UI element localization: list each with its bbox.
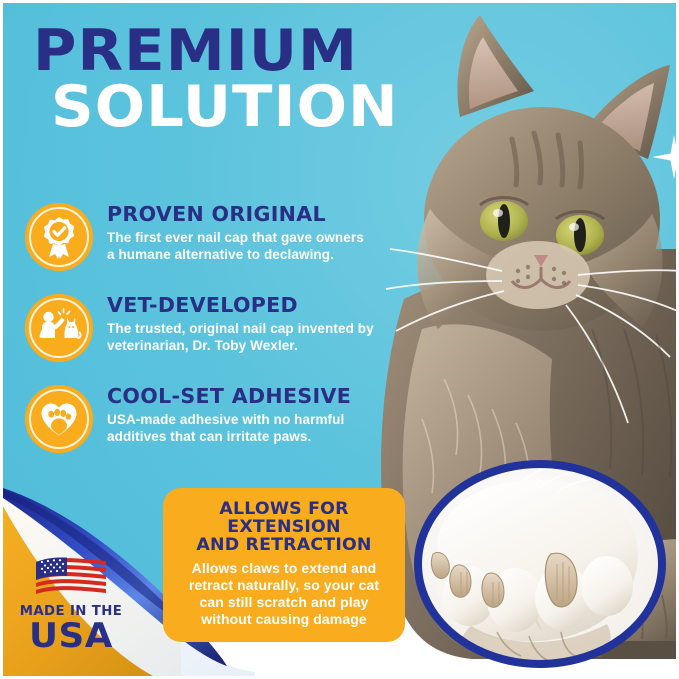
sparkle-icon	[652, 135, 676, 179]
feature-title: COOL-SET ADHESIVE	[107, 386, 435, 408]
page-title: PREMIUM SOLUTION	[33, 25, 433, 134]
heart-paw-icon	[25, 385, 93, 453]
vet-highfive-cat-icon	[25, 294, 93, 362]
made-in-usa-badge: MADE IN THE USA	[13, 556, 129, 654]
feature-title: PROVEN ORIGINAL	[107, 204, 435, 226]
feature-item-proven-original: PROVEN ORIGINAL The first ever nail cap …	[25, 203, 425, 271]
product-marketing-image: PREMIUM SOLUTION PROVEN ORIGINAL The	[0, 0, 679, 679]
feature-item-vet-developed: VET-DEVELOPED The trusted, original nail…	[25, 294, 425, 362]
made-in-usa-line-2: USA	[10, 619, 132, 654]
us-flag-icon	[34, 556, 108, 600]
feature-body: The first ever nail cap that gave owners…	[107, 229, 375, 265]
callout-body: Allows claws to extend and retract natur…	[177, 560, 391, 628]
callout-title-line-1: ALLOWS FOR EXTENSION	[175, 500, 393, 537]
feature-item-cool-set-adhesive: COOL-SET ADHESIVE USA-made adhesive with…	[25, 385, 425, 453]
callout-title-line-2: AND RETRACTION	[175, 536, 393, 554]
background-panel: PREMIUM SOLUTION PROVEN ORIGINAL The	[3, 3, 676, 676]
feature-list: PROVEN ORIGINAL The first ever nail cap …	[25, 203, 425, 476]
cat-paw-with-nail-caps-closeup	[411, 458, 669, 670]
feature-body: USA-made adhesive with no harmful additi…	[107, 411, 375, 447]
feature-title: VET-DEVELOPED	[107, 295, 435, 317]
headline-line-1: PREMIUM	[33, 25, 449, 77]
headline-line-2: SOLUTION	[51, 81, 448, 133]
extension-retraction-callout: ALLOWS FOR EXTENSION AND RETRACTION Allo…	[163, 488, 405, 642]
feature-body: The trusted, original nail cap invented …	[107, 320, 375, 356]
award-badge-icon	[25, 203, 93, 271]
